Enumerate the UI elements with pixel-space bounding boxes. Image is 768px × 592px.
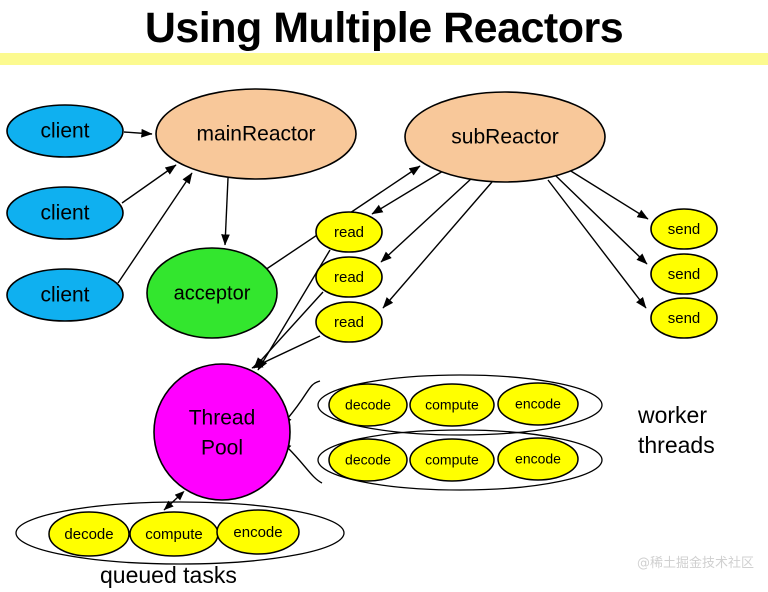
edge-subreactor-to-send3 (548, 180, 646, 308)
queued-task-encode[interactable]: encode (217, 510, 299, 554)
edge-read3-to-threadpool (252, 336, 320, 368)
edge-mainreactor-to-acceptor (225, 178, 228, 245)
thread-pool-label-line2: Pool (201, 437, 243, 460)
worker-group-2-decode[interactable]: decode (329, 439, 407, 481)
client-node-1[interactable]: client (7, 105, 123, 157)
worker-group-2-encode-label: encode (515, 451, 561, 467)
worker-group-1-tasks: decode compute encode (329, 383, 578, 426)
thread-pool-node[interactable]: Thread Pool (154, 364, 290, 500)
send-node-2[interactable]: send (651, 254, 717, 294)
read-node-1-label: read (334, 224, 364, 241)
diagram-svg: client client client mainReactor subReac… (0, 0, 768, 592)
worker-group-2-tasks: decode compute encode (329, 438, 578, 481)
queued-task-compute-label: compute (145, 526, 203, 543)
client-node-3[interactable]: client (7, 269, 123, 321)
queued-tasks-group: decode compute encode (49, 510, 299, 556)
thread-pool-label-line1: Thread (189, 407, 256, 430)
worker-group-2-decode-label: decode (345, 452, 391, 468)
send-nodes: send send send (651, 209, 717, 338)
client-node-2[interactable]: client (7, 187, 123, 239)
acceptor-label: acceptor (174, 282, 251, 304)
main-reactor-label: mainReactor (196, 123, 315, 146)
read-node-3-label: read (334, 314, 364, 331)
worker-group-1-decode-label: decode (345, 397, 391, 413)
read-node-3[interactable]: read (316, 302, 382, 342)
send-node-1-label: send (668, 221, 701, 238)
thread-pool-shape[interactable] (154, 364, 290, 500)
worker-group-2-encode[interactable]: encode (498, 438, 578, 480)
edge-threadpool-to-workergroup2 (288, 448, 322, 483)
client-node-2-label: client (40, 202, 89, 225)
send-node-3[interactable]: send (651, 298, 717, 338)
edge-threadpool-to-queued-tasks (164, 497, 178, 510)
queued-task-encode-label: encode (233, 524, 282, 541)
edge-client1-to-mainreactor (124, 132, 152, 134)
read-node-2-label: read (334, 269, 364, 286)
send-node-1[interactable]: send (651, 209, 717, 249)
queued-tasks-caption: queued tasks (100, 562, 237, 588)
edge-threadpool-to-workergroup1 (288, 381, 320, 418)
slide-canvas: Using Multiple Reactors (0, 0, 768, 592)
sub-reactor-node[interactable]: subReactor (405, 92, 605, 182)
worker-group-1-compute[interactable]: compute (410, 384, 494, 426)
edge-subreactor-to-send1 (566, 168, 648, 219)
sub-reactor-label: subReactor (451, 126, 558, 149)
worker-group-1-encode[interactable]: encode (498, 383, 578, 425)
queued-task-decode[interactable]: decode (49, 512, 129, 556)
worker-group-1-encode-label: encode (515, 396, 561, 412)
queued-task-compute[interactable]: compute (130, 512, 218, 556)
edge-client2-to-mainreactor (122, 165, 176, 203)
queued-task-decode-label: decode (64, 526, 113, 543)
watermark: @稀土掘金技术社区 (637, 552, 754, 571)
read-nodes: read read read (316, 212, 382, 342)
worker-group-2-compute-label: compute (425, 452, 479, 468)
worker-group-1-compute-label: compute (425, 397, 479, 413)
client-nodes: client client client (7, 105, 123, 321)
worker-group-1-decode[interactable]: decode (329, 384, 407, 426)
acceptor-node[interactable]: acceptor (147, 248, 277, 338)
client-node-3-label: client (40, 284, 89, 307)
worker-threads-caption-line1: worker (637, 402, 707, 428)
read-node-1[interactable]: read (316, 212, 382, 252)
main-reactor-node[interactable]: mainReactor (156, 89, 356, 179)
client-node-1-label: client (40, 120, 89, 143)
worker-threads-caption-line2: threads (638, 432, 715, 458)
read-node-2[interactable]: read (316, 257, 382, 297)
send-node-2-label: send (668, 266, 701, 283)
worker-group-2-compute[interactable]: compute (410, 439, 494, 481)
send-node-3-label: send (668, 310, 701, 327)
